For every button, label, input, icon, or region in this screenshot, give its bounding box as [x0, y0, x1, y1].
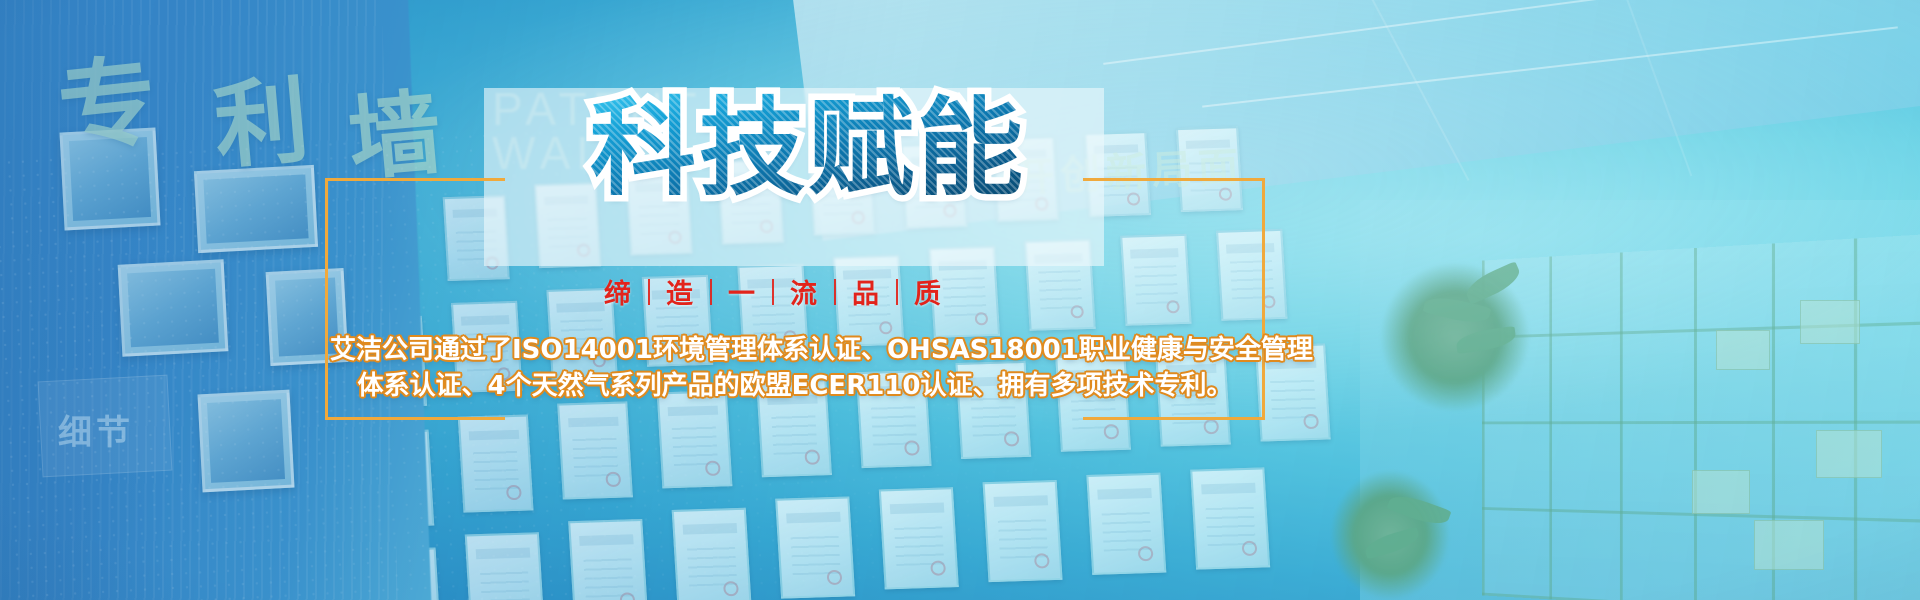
subtitle-separator	[834, 279, 836, 305]
subtitle-char: 造	[650, 272, 710, 311]
subtitle-char: 一	[712, 272, 772, 311]
body-line-1: 艾洁公司通过了ISO14001环境管理体系认证、OHSAS18001职业健康与安…	[330, 332, 1260, 368]
subtitle-char: 流	[774, 272, 834, 311]
subtitle-separator	[710, 279, 712, 305]
subtitle-char: 品	[836, 272, 896, 311]
subtitle-separator	[648, 279, 650, 305]
banner-title: 科技赋能 科技赋能	[590, 92, 1026, 203]
subtitle-char: 质	[898, 272, 958, 311]
subtitle-separator	[772, 279, 774, 305]
body-line-2: 体系认证、4个天然气系列产品的欧盟ECER110认证、拥有多项技术专利。	[330, 368, 1260, 404]
subtitle-separator	[896, 279, 898, 305]
banner-subtitle: 缔 造 一 流 品 质	[588, 272, 958, 311]
subtitle-char: 缔	[588, 272, 648, 311]
banner-body-text: 艾洁公司通过了ISO14001环境管理体系认证、OHSAS18001职业健康与安…	[330, 332, 1260, 404]
title-fill-layer: 科技赋能	[590, 92, 1026, 203]
promo-banner: 细节 专 利 墙 PATENT WALL 开创新局面 科技赋能 科技赋能 缔 造…	[0, 0, 1920, 600]
